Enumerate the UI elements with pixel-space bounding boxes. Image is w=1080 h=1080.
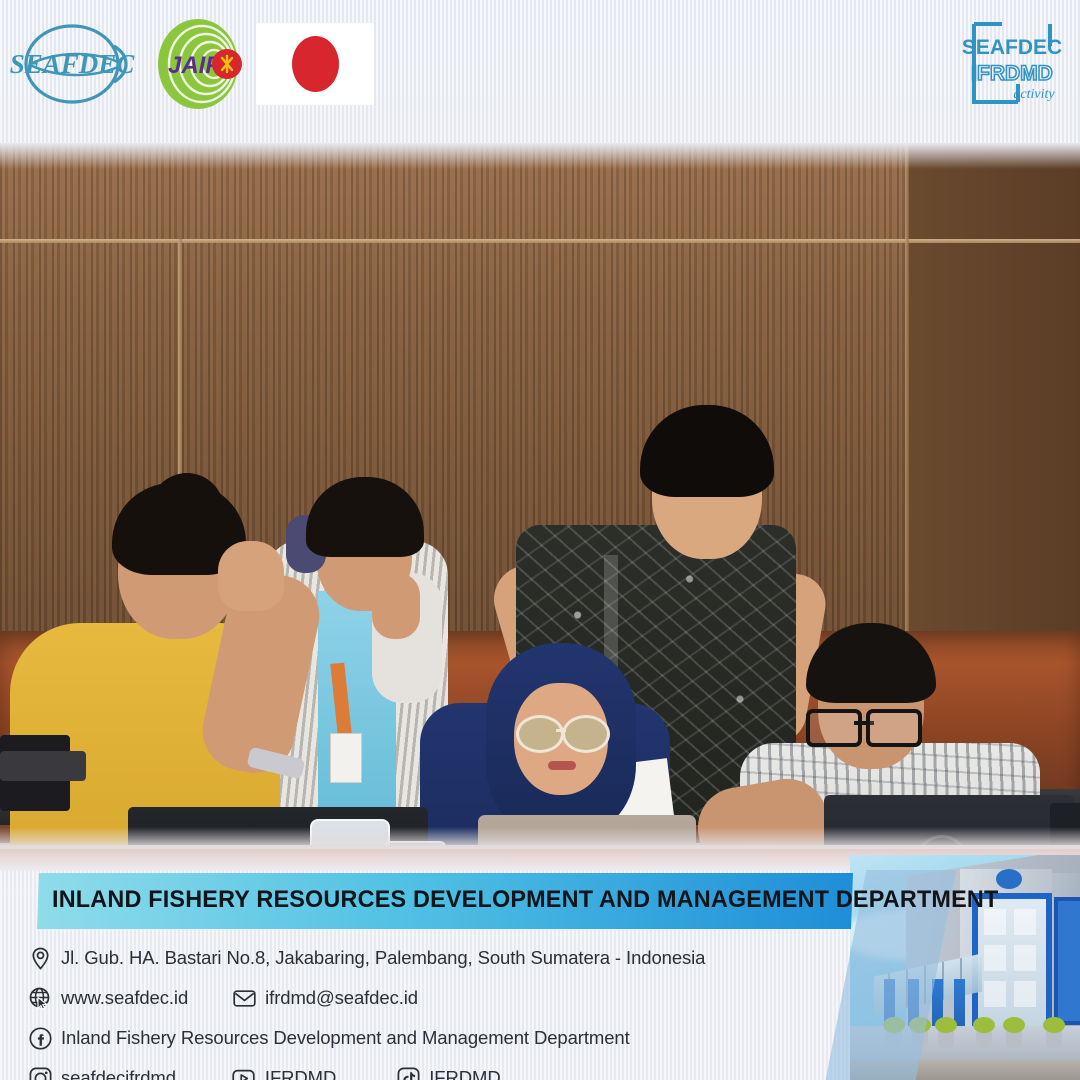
- facebook-text[interactable]: Inland Fishery Resources Development and…: [61, 1027, 630, 1049]
- person-hijab-lips: [548, 761, 576, 770]
- poster-canvas: SEAFDEC JAIF: [0, 0, 1080, 1080]
- meeting-photo: HP: [0, 143, 1080, 849]
- contact-row-web-email: www.seafdec.id ifrdmd@seafdec.id: [28, 980, 848, 1016]
- wall-seam: [0, 239, 1080, 243]
- partner-logos: SEAFDEC JAIF: [18, 18, 374, 110]
- map-pin-icon: [28, 946, 52, 970]
- wood-wall-right-panel: [908, 143, 1080, 663]
- seafdec-ifrdmd-activity-logo: SEAFDEC IFRDMD activity: [956, 16, 1068, 114]
- contact-row-address: Jl. Gub. HA. Bastari No.8, Jakabaring, P…: [28, 940, 848, 976]
- eyeglasses-icon: [806, 709, 922, 739]
- jaif-logo: JAIF: [148, 18, 248, 110]
- instagram-text[interactable]: seafdecifrdmd: [61, 1067, 176, 1080]
- contact-row-facebook: Inland Fishery Resources Development and…: [28, 1020, 848, 1056]
- person-yellow-hand: [218, 541, 284, 611]
- tiktok-text[interactable]: IFRDMD: [429, 1067, 500, 1080]
- building-logo-badge: [996, 869, 1022, 889]
- youtube-text[interactable]: IFRDMD: [265, 1067, 336, 1080]
- dark-tray: [0, 751, 86, 781]
- instagram-icon: [28, 1066, 52, 1080]
- japan-flag-icon: [256, 23, 374, 105]
- facebook-icon: [28, 1026, 52, 1050]
- contact-details: Jl. Gub. HA. Bastari No.8, Jakabaring, P…: [28, 940, 848, 1080]
- photo-top-fade: [0, 143, 1080, 169]
- envelope-icon: [232, 986, 256, 1010]
- wall-seam: [905, 143, 909, 663]
- department-title: INLAND FISHERY RESOURCES DEVELOPMENT AND…: [52, 886, 816, 918]
- youtube-icon: [232, 1066, 256, 1080]
- globe-cursor-icon: [28, 986, 52, 1010]
- ifrdmd-logo-line1: SEAFDEC: [962, 36, 1062, 59]
- tiktok-icon: [396, 1066, 420, 1080]
- eyeglasses-lens-right: [562, 715, 610, 753]
- photo-bottom-fade: [0, 827, 1080, 849]
- eyeglasses-lens-left: [516, 715, 564, 753]
- contact-row-social: seafdecifrdmd IFRDMD IFR: [28, 1060, 848, 1080]
- header-logo-bar: SEAFDEC JAIF: [0, 0, 1080, 145]
- ifrdmd-logo-line2: IFRDMD: [971, 62, 1053, 85]
- person-id-badge: [330, 733, 362, 783]
- ifrdmd-logo-line3: activity: [1013, 87, 1055, 102]
- eyeglasses-bridge: [556, 729, 566, 732]
- person-striped-hand: [372, 573, 420, 639]
- email-text[interactable]: ifrdmd@seafdec.id: [265, 987, 418, 1009]
- address-text: Jl. Gub. HA. Bastari No.8, Jakabaring, P…: [61, 947, 705, 969]
- seafdec-logo: SEAFDEC: [18, 18, 140, 110]
- japan-flag-disc: [292, 36, 339, 92]
- website-text[interactable]: www.seafdec.id: [61, 987, 188, 1009]
